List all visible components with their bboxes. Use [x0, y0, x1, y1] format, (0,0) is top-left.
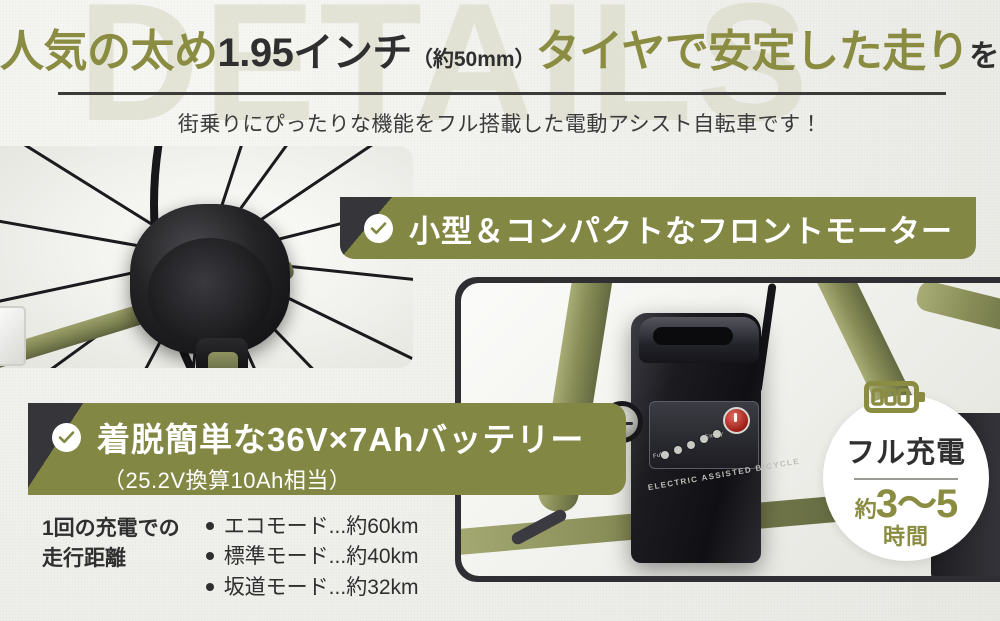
wheel-reflector — [0, 306, 26, 366]
battery-handle — [653, 327, 733, 345]
page-headline: 人気の太め1.95インチ（約50mm）タイヤで安定した走りを！ — [0, 30, 1000, 74]
battery-led — [674, 446, 682, 454]
headline-part1: 人気の太め — [0, 27, 218, 76]
range-label-line1: 1回の充電での — [42, 514, 180, 544]
range-block: 1回の充電での 走行距離 エコモード...約60km 標準モード...約40km… — [42, 512, 419, 603]
page-subtitle: 街乗りにぴったりな機能をフル搭載した電動アシスト自転車です！ — [0, 108, 1000, 138]
battery-led — [687, 441, 695, 449]
list-item: 標準モード...約40km — [206, 542, 419, 572]
list-item: エコモード...約60km — [206, 512, 419, 542]
range-label-line2: 走行距離 — [42, 544, 180, 574]
bike-rear-tube-2 — [914, 283, 1000, 337]
check-circle-icon — [364, 214, 393, 243]
headline-tail: を！ — [969, 40, 1000, 73]
range-list: エコモード...約60km 標準モード...約40km 坂道モード...約32k… — [180, 512, 419, 603]
hub-motor-flange — [148, 238, 272, 348]
headline-size-note: （約50mm） — [412, 48, 536, 71]
badge-unit: 時間 — [883, 524, 929, 550]
badge-title: フル充電 — [846, 429, 966, 471]
banner-battery-sublabel: （25.2V換算10Ah相当） — [103, 463, 626, 495]
badge-divider — [854, 478, 958, 480]
banner-battery-label: 着脱簡単な36V×7Ahバッテリー — [97, 413, 584, 461]
badge-hours-prefix: 約 — [855, 497, 876, 522]
hub-axle-nut — [208, 352, 238, 368]
battery-power-button — [723, 407, 750, 434]
list-item: 坂道モード...約32km — [206, 573, 419, 603]
header-divider — [58, 92, 946, 95]
badge-hours-value: 3〜5 — [876, 482, 958, 526]
headline-part3: タイヤで安定した走り — [536, 27, 970, 76]
badge-hours: 約3〜5 — [855, 484, 958, 524]
check-circle-icon — [52, 423, 81, 452]
product-detail-page: DETAILS 人気の太め1.95インチ（約50mm）タイヤで安定した走りを！ … — [0, 0, 1000, 621]
battery-icon — [864, 378, 926, 421]
headline-size: 1.95インチ — [218, 31, 412, 75]
banner-battery: 着脱簡単な36V×7Ahバッテリー （25.2V換算10Ah相当） — [28, 403, 626, 495]
banner-front-motor: 小型＆コンパクトなフロントモーター — [340, 197, 976, 259]
banner-front-motor-label: 小型＆コンパクトなフロントモーター — [409, 206, 953, 251]
range-label: 1回の充電での 走行距離 — [42, 512, 180, 575]
